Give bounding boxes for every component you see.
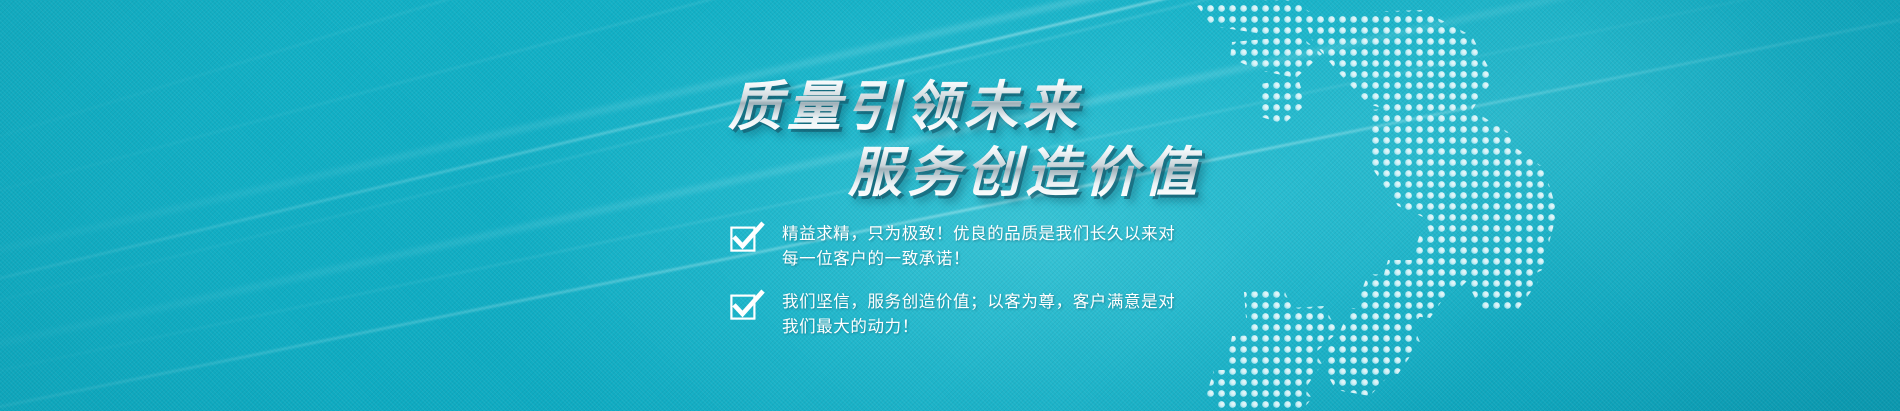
checkbox-checked-icon bbox=[730, 291, 764, 321]
bullet-text-line-2: 我们最大的动力！ bbox=[782, 315, 1175, 340]
bullet-text: 精益求精，只为极致！优良的品质是我们长久以来对 每一位客户的一致承诺！ bbox=[782, 222, 1175, 272]
headline-line-2: 服务创造价值 bbox=[848, 128, 1202, 207]
promo-banner: 质量引领未来 服务创造价值 精益求精，只为极致！优良的品质是我们长久以来对 每一… bbox=[0, 0, 1900, 411]
bullet-text-line-2: 每一位客户的一致承诺！ bbox=[782, 247, 1175, 272]
bullet-text-line-1: 精益求精，只为极致！优良的品质是我们长久以来对 bbox=[782, 225, 1175, 243]
bullet-item: 我们坚信，服务创造价值；以客为尊，客户满意是对 我们最大的动力！ bbox=[730, 290, 1175, 340]
checkbox-checked-icon bbox=[730, 223, 764, 253]
bullet-text: 我们坚信，服务创造价值；以客为尊，客户满意是对 我们最大的动力！ bbox=[782, 290, 1175, 340]
bullet-text-line-1: 我们坚信，服务创造价值；以客为尊，客户满意是对 bbox=[782, 293, 1175, 311]
bullet-item: 精益求精，只为极致！优良的品质是我们长久以来对 每一位客户的一致承诺！ bbox=[730, 222, 1175, 272]
banner-content: 质量引领未来 服务创造价值 精益求精，只为极致！优良的品质是我们长久以来对 每一… bbox=[0, 0, 1900, 411]
